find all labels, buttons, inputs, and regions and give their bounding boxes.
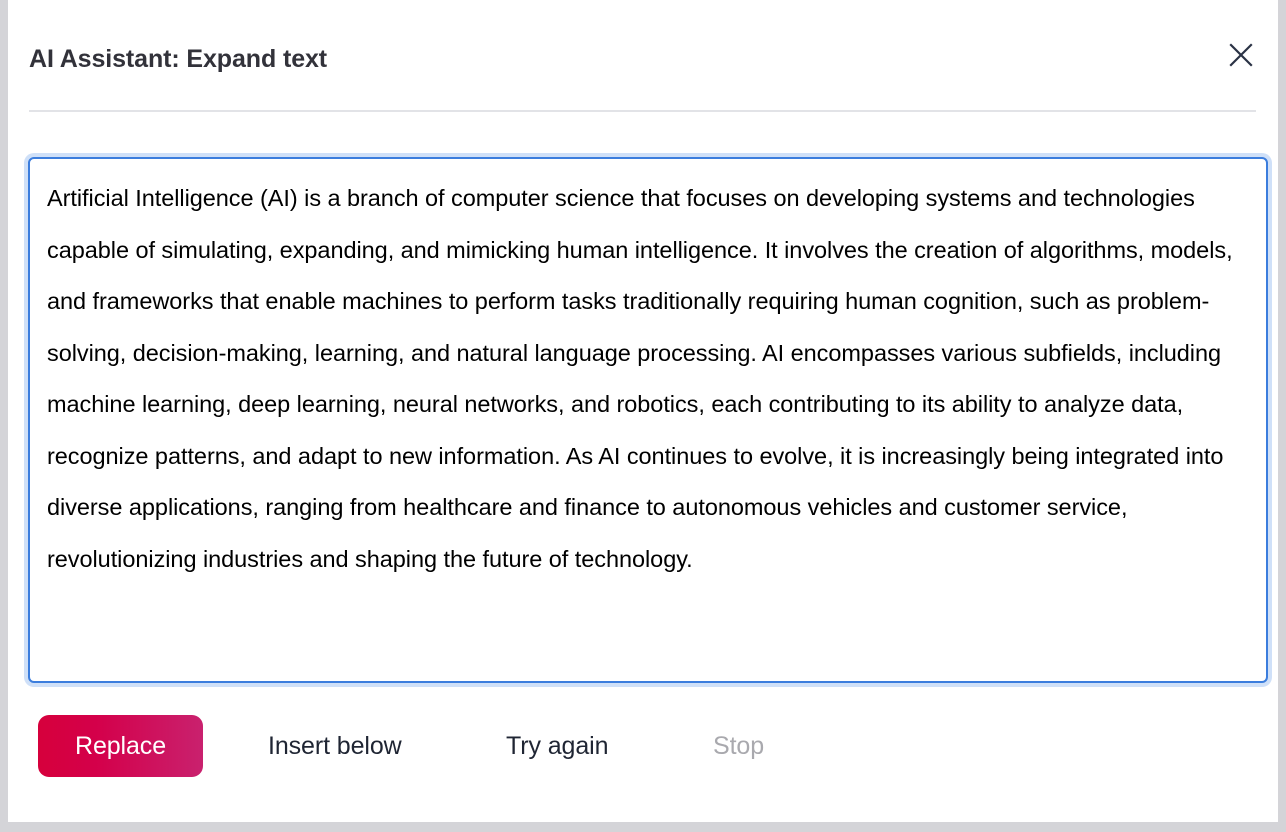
close-button[interactable] bbox=[1224, 38, 1258, 72]
dialog-header: AI Assistant: Expand text bbox=[8, 0, 1278, 110]
try-again-button[interactable]: Try again bbox=[506, 715, 608, 777]
replace-button[interactable]: Replace bbox=[38, 715, 203, 777]
result-textarea[interactable] bbox=[28, 157, 1268, 683]
result-textarea-container bbox=[23, 152, 1277, 687]
stop-button[interactable]: Stop bbox=[713, 715, 764, 777]
insert-below-button[interactable]: Insert below bbox=[268, 715, 402, 777]
close-icon bbox=[1228, 42, 1254, 68]
ai-assistant-dialog: AI Assistant: Expand text Replace Insert… bbox=[8, 0, 1278, 822]
action-bar: Replace Insert below Try again Stop bbox=[23, 707, 1263, 787]
dialog-title: AI Assistant: Expand text bbox=[29, 45, 327, 74]
header-divider bbox=[29, 110, 1256, 112]
